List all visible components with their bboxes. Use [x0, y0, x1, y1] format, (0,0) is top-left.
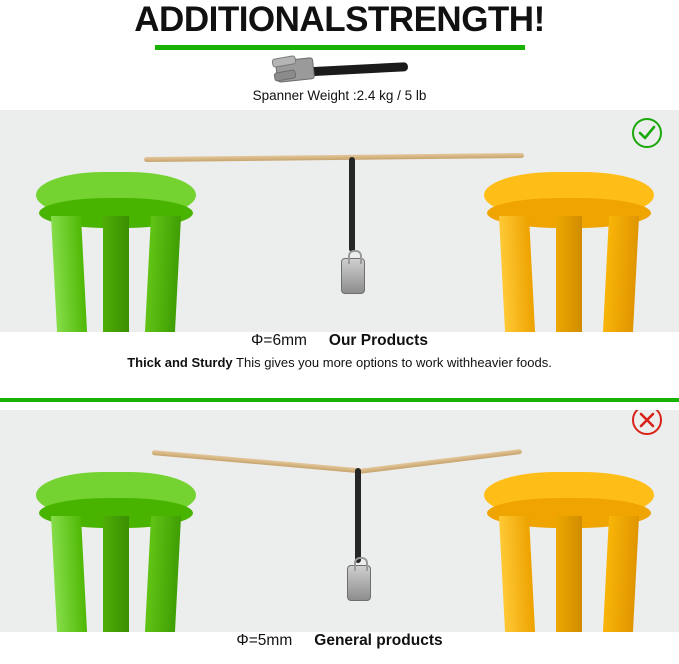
stool-leg-right — [145, 216, 181, 332]
stool-yellow-bottom — [484, 472, 654, 632]
stool-leg-left — [51, 216, 87, 332]
header: ADDITIONALSTRENGTH! Spanner Weight :2.4 … — [0, 0, 679, 110]
diameter-label-top: Φ=6mm — [251, 332, 307, 349]
stool-green-bottom — [36, 472, 196, 632]
wrench-icon — [262, 56, 412, 84]
weight-cord-bottom — [355, 468, 361, 563]
caption-row: Φ=6mmOur Products — [0, 332, 679, 350]
stool-leg-middle — [103, 516, 129, 632]
check-circle-icon — [632, 118, 662, 148]
hanging-weight-bottom — [347, 565, 371, 601]
spanner-weight-label: Spanner Weight :2.4 kg / 5 lb — [0, 88, 679, 103]
skewer-rod-straight — [144, 153, 524, 162]
caption-sub-text: This gives you more options to work with… — [236, 355, 552, 370]
skewer-rod-bent-right — [358, 449, 522, 474]
skewer-rod-bent-left — [152, 450, 362, 473]
stool-leg-left — [51, 516, 87, 632]
diameter-label-bottom: Φ=5mm — [236, 632, 292, 649]
stool-leg-left — [499, 516, 535, 632]
photo-panel-general-products — [0, 410, 679, 632]
weight-hook — [354, 557, 368, 571]
photo-panel-our-products — [0, 110, 679, 332]
page-title: ADDITIONALSTRENGTH! — [0, 0, 679, 40]
caption-row: Φ=5mmGeneral products — [0, 632, 679, 650]
weight-cord-top — [349, 157, 355, 252]
stool-leg-middle — [556, 516, 582, 632]
caption-our-products: Φ=6mmOur Products Thick and Sturdy This … — [0, 332, 679, 370]
product-label-bottom: General products — [314, 632, 442, 649]
weight-hook — [348, 250, 362, 264]
stool-green-top — [36, 172, 196, 332]
hanging-weight-top — [341, 258, 365, 294]
stool-leg-middle — [103, 216, 129, 332]
caption-subtext-top: Thick and Sturdy This gives you more opt… — [0, 355, 679, 370]
product-label-top: Our Products — [329, 332, 428, 349]
title-underline — [155, 45, 525, 50]
stool-leg-right — [145, 516, 181, 632]
stool-yellow-top — [484, 172, 654, 332]
stool-leg-middle — [556, 216, 582, 332]
stool-leg-left — [499, 216, 535, 332]
stool-leg-right — [603, 216, 639, 332]
stool-leg-right — [603, 516, 639, 632]
caption-general-products: Φ=5mmGeneral products — [0, 632, 679, 650]
product-comparison-image: ADDITIONALSTRENGTH! Spanner Weight :2.4 … — [0, 0, 679, 664]
caption-sub-strong: Thick and Sturdy — [127, 355, 232, 370]
cross-circle-icon — [632, 410, 662, 435]
section-divider — [0, 398, 679, 402]
